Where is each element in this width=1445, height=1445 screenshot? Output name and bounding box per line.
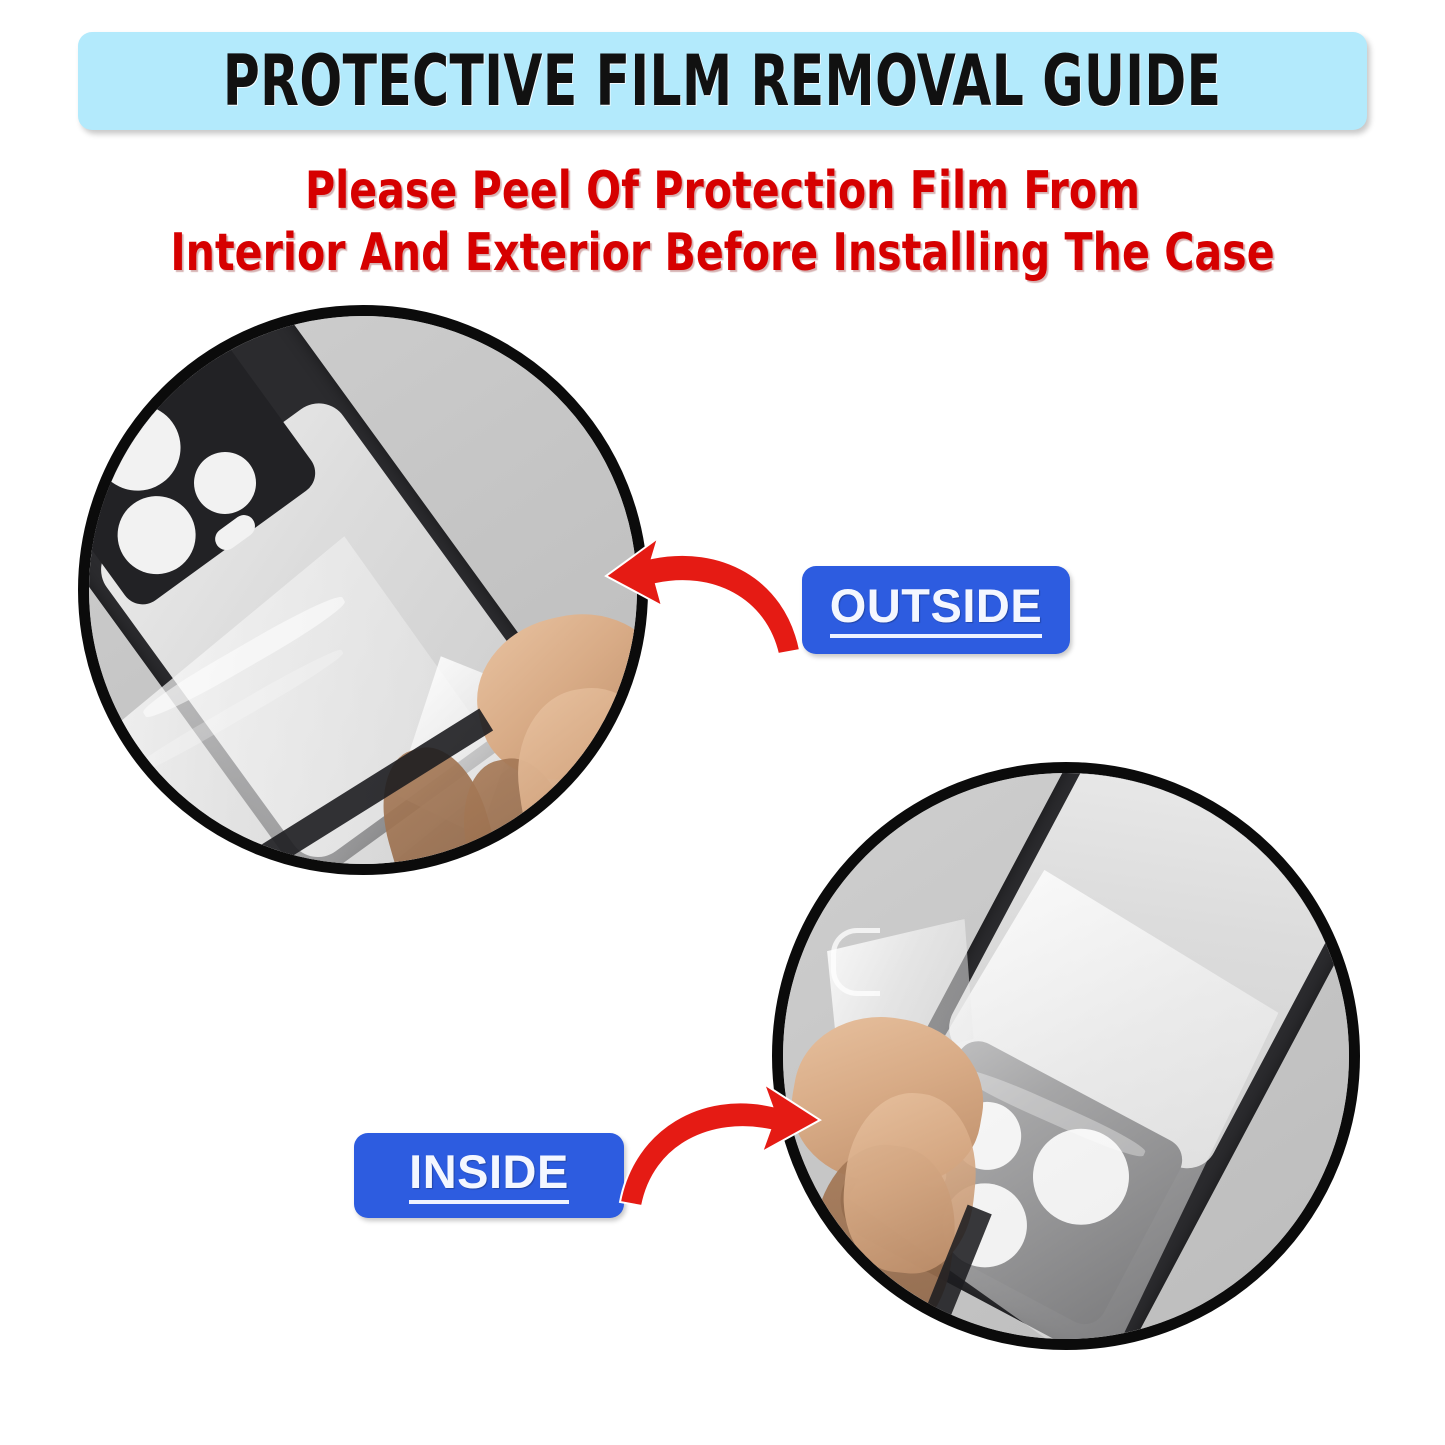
badge-outside[interactable]: OUTSIDE <box>802 566 1070 654</box>
arrow-right-icon <box>612 1080 827 1210</box>
camera-lens-tele-outside <box>182 440 269 527</box>
badge-inside[interactable]: INSIDE <box>354 1133 624 1218</box>
badge-inside-label: INSIDE <box>409 1148 569 1204</box>
title-banner: PROTECTIVE FILM REMOVAL GUIDE <box>78 32 1367 130</box>
inside-photo-scene <box>783 773 1349 1339</box>
page-title: PROTECTIVE FILM REMOVAL GUIDE <box>223 46 1222 116</box>
subtitle-instruction: Please Peel Of Protection Film From Inte… <box>0 160 1445 284</box>
outside-photo-scene <box>89 316 637 864</box>
badge-outside-label: OUTSIDE <box>830 582 1042 638</box>
subtitle-line-2: Interior And Exterior Before Installing … <box>87 222 1359 284</box>
subtitle-line-1: Please Peel Of Protection Film From <box>87 160 1359 222</box>
inside-photo <box>772 762 1360 1350</box>
camera-lens-main-outside <box>89 388 198 508</box>
outside-photo <box>78 305 648 875</box>
arrow-left-icon <box>600 532 810 662</box>
film-curl-inside <box>831 928 880 996</box>
